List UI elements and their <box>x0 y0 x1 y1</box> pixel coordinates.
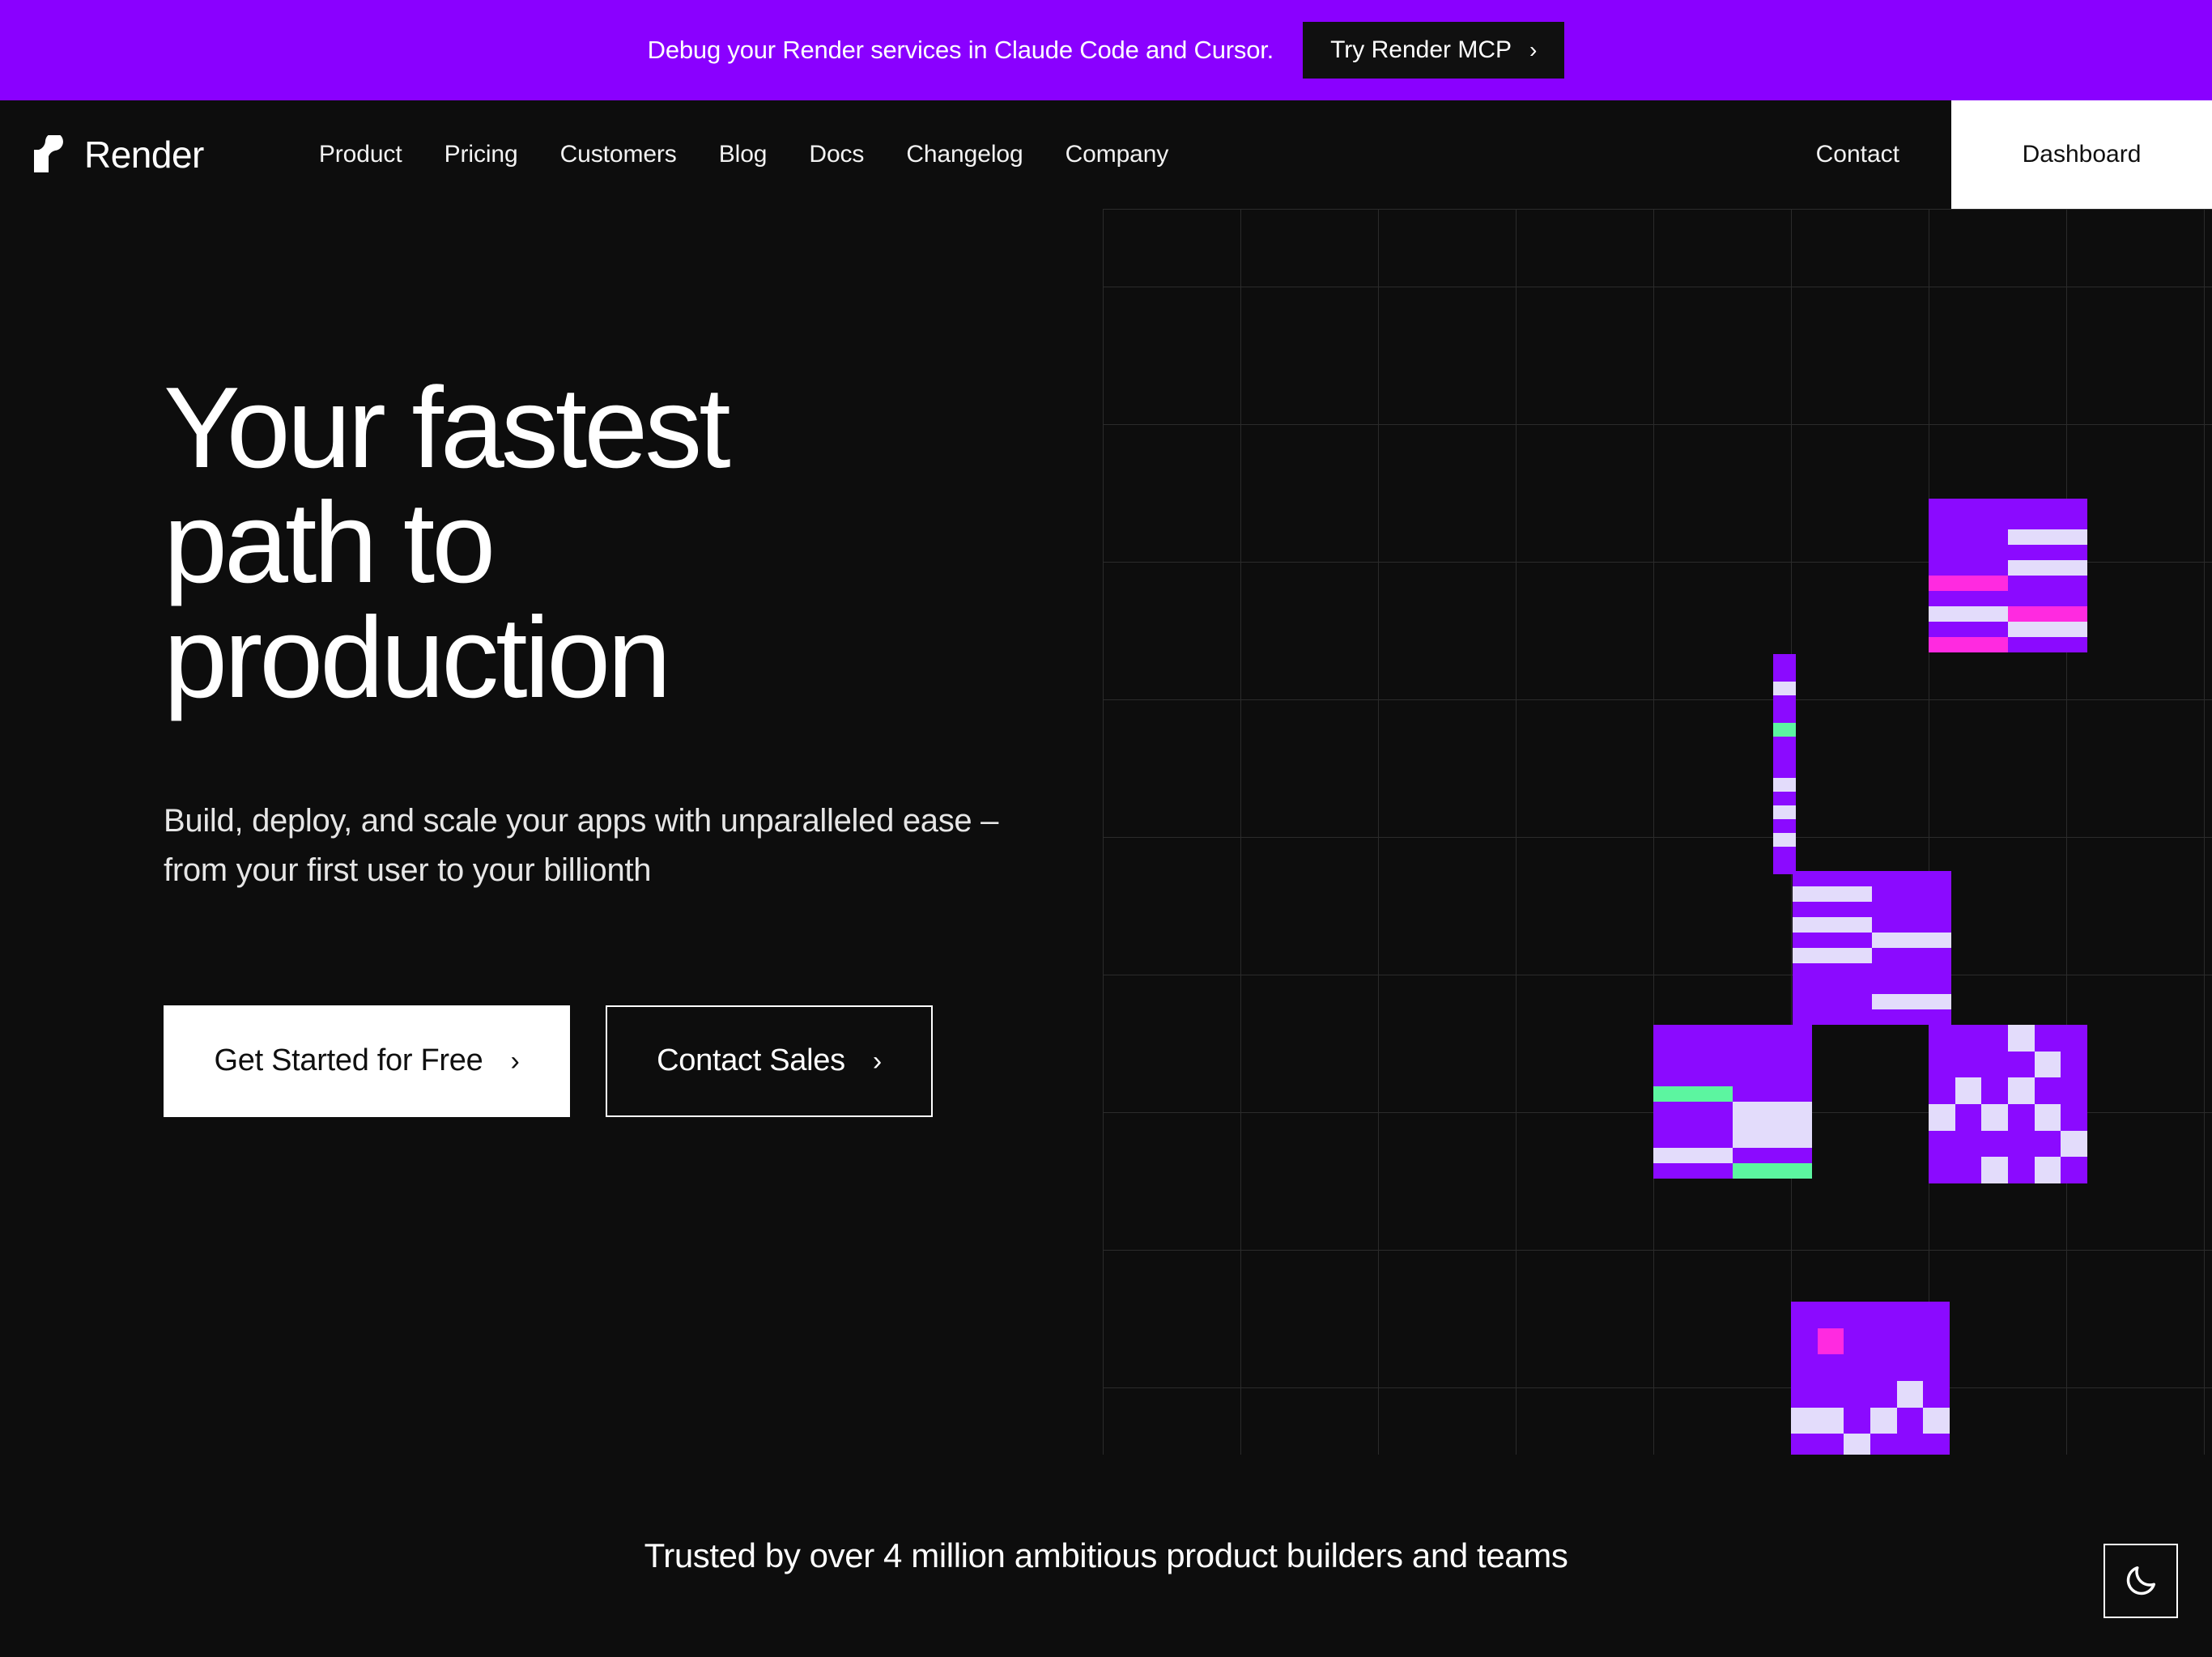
pixel-cell <box>1653 1025 1733 1040</box>
left-green-striped-block <box>1653 1025 1812 1179</box>
nav-right-group: Contact Dashboard <box>1764 100 2212 209</box>
pixel-cell <box>1872 1009 1951 1025</box>
nav-link-company[interactable]: Company <box>1066 141 1169 168</box>
pixel-cell <box>1872 886 1951 902</box>
chevron-right-icon: › <box>1529 39 1537 62</box>
pixel-cell <box>1793 979 1872 994</box>
grid-line-vertical <box>1516 209 1516 1455</box>
pixel-cell <box>1923 1408 1950 1434</box>
contact-sales-label: Contact Sales <box>657 1043 845 1078</box>
pixel-cell <box>1955 1077 1982 1104</box>
main-navigation: Render Product Pricing Customers Blog Do… <box>0 100 2212 209</box>
pixel-cell <box>2008 545 2087 560</box>
grid-line-horizontal <box>1103 1387 2212 1388</box>
pixel-cell <box>1929 1157 1955 1183</box>
pixel-cell <box>1929 1052 1955 1078</box>
pixel-cell <box>2008 1131 2035 1158</box>
pixel-cell <box>1981 1025 2008 1052</box>
hero-subtitle: Build, deploy, and scale your apps with … <box>164 797 1135 895</box>
pixel-cell <box>2035 1131 2061 1158</box>
pixel-cell <box>1793 948 1872 963</box>
pixel-cell <box>1870 1302 1897 1328</box>
pixel-cell <box>1929 1077 1955 1104</box>
pixel-cell <box>2008 529 2087 545</box>
pixel-cell <box>1653 1056 1733 1071</box>
pixel-cell <box>1733 1086 1812 1102</box>
pixel-cell <box>1793 994 1872 1009</box>
pixel-cell <box>1929 560 2008 576</box>
pixel-cell <box>1653 1163 1733 1179</box>
pixel-cell <box>2008 514 2087 529</box>
pixel-cell <box>1793 917 1872 933</box>
pixel-cell <box>1870 1381 1897 1408</box>
hero-cta-group: Get Started for Free › Contact Sales › <box>164 1005 1135 1117</box>
pixel-cell <box>2008 622 2087 637</box>
nav-link-product[interactable]: Product <box>319 141 402 168</box>
pixel-cell <box>1844 1354 1870 1381</box>
pixel-cell <box>1955 1025 1982 1052</box>
pixel-cell <box>1791 1354 1818 1381</box>
pixel-cell <box>1773 709 1796 723</box>
pixel-cell <box>1897 1328 1924 1355</box>
pixel-cell <box>1929 637 2008 652</box>
contact-sales-button[interactable]: Contact Sales › <box>606 1005 933 1117</box>
try-render-mcp-label: Try Render MCP <box>1330 36 1512 64</box>
pixel-cell <box>2035 1052 2061 1078</box>
pixel-cell <box>1844 1381 1870 1408</box>
pixel-cell <box>1923 1434 1950 1455</box>
trust-text: Trusted by over 4 million ambitious prod… <box>644 1536 1568 1575</box>
pixel-cell <box>2061 1131 2087 1158</box>
pixel-cell <box>1733 1071 1812 1086</box>
grid-line-horizontal <box>1103 424 2212 425</box>
nav-left-group: Render Product Pricing Customers Blog Do… <box>0 100 1168 209</box>
center-striped-block <box>1793 871 1951 1025</box>
pixel-cell <box>1872 948 1951 963</box>
pixel-cell <box>1923 1302 1950 1328</box>
pixel-cell <box>1773 737 1796 750</box>
pixel-cell <box>1653 1086 1733 1102</box>
pixel-cell <box>1929 576 2008 591</box>
page-title: Your fastest path to production <box>164 371 1135 716</box>
announcement-banner: Debug your Render services in Claude Cod… <box>0 0 2212 100</box>
pixel-cell <box>1929 499 2008 514</box>
pixel-cell <box>1897 1354 1924 1381</box>
render-landing-page: Debug your Render services in Claude Cod… <box>0 0 2212 1657</box>
pixel-cell <box>1870 1354 1897 1381</box>
grid-lines <box>1103 209 2212 1455</box>
pixel-cell <box>1929 1104 1955 1131</box>
pixel-cell <box>1733 1025 1812 1040</box>
pixel-cell <box>2008 560 2087 576</box>
pixel-cell <box>2008 1157 2035 1183</box>
pixel-cell <box>1981 1104 2008 1131</box>
pixel-cell <box>1929 529 2008 545</box>
pixel-cell <box>1773 764 1796 778</box>
pixel-cell <box>1793 1009 1872 1025</box>
pixel-cell <box>1929 545 2008 560</box>
pixel-cell <box>1818 1434 1844 1455</box>
render-logo[interactable]: Render <box>31 133 204 176</box>
pixel-cell <box>1870 1434 1897 1455</box>
announcement-text: Debug your Render services in Claude Cod… <box>648 36 1274 65</box>
pixel-cell <box>1981 1052 2008 1078</box>
grid-line-vertical <box>1929 209 1929 1455</box>
nav-link-docs[interactable]: Docs <box>809 141 864 168</box>
pixel-cell <box>1773 778 1796 792</box>
grid-line-vertical <box>1240 209 1241 1455</box>
grid-line-vertical <box>2204 209 2205 1455</box>
pixel-cell <box>2061 1104 2087 1131</box>
pixel-cell <box>1773 847 1796 860</box>
pixel-cell <box>1955 1104 1982 1131</box>
thin-vertical-strip <box>1773 654 1796 874</box>
pixel-cell <box>1773 833 1796 847</box>
nav-link-pricing[interactable]: Pricing <box>445 141 518 168</box>
top-right-striped-block <box>1929 499 2087 652</box>
pixel-cell <box>1872 902 1951 917</box>
pixel-cell <box>1793 886 1872 902</box>
pixel-cell <box>2061 1077 2087 1104</box>
pixel-cell <box>2008 499 2087 514</box>
grid-line-horizontal <box>1103 837 2212 838</box>
pixel-cell <box>1929 606 2008 622</box>
pixel-cell <box>1733 1148 1812 1163</box>
trust-banner: Trusted by over 4 million ambitious prod… <box>0 1455 2212 1657</box>
pixel-cell <box>1872 917 1951 933</box>
pixel-cell <box>1733 1163 1812 1179</box>
pixel-cell <box>2008 1052 2035 1078</box>
grid-line-horizontal <box>1103 209 2212 210</box>
pixel-cell <box>1653 1148 1733 1163</box>
pixel-grid-hero-art <box>1103 209 2212 1455</box>
pixel-cell <box>1773 682 1796 695</box>
hero-copy: Your fastest path to production Build, d… <box>164 371 1135 1117</box>
pixel-cell <box>1897 1408 1924 1434</box>
pixel-cell <box>1791 1381 1818 1408</box>
moon-icon <box>2122 1562 2159 1600</box>
pixel-cell <box>1653 1071 1733 1086</box>
pixel-cell <box>1733 1056 1812 1071</box>
pixel-cell <box>1733 1132 1812 1148</box>
pixel-cell <box>1818 1381 1844 1408</box>
nav-link-changelog[interactable]: Changelog <box>906 141 1023 168</box>
pixel-cell <box>1653 1117 1733 1132</box>
pixel-cell <box>1929 1131 1955 1158</box>
pixel-cell <box>1897 1434 1924 1455</box>
pixel-cell <box>2035 1077 2061 1104</box>
grid-line-vertical <box>1378 209 1379 1455</box>
pixel-cell <box>1872 994 1951 1009</box>
get-started-label: Get Started for Free <box>215 1043 483 1078</box>
pixel-cell <box>1981 1077 2008 1104</box>
grid-line-horizontal <box>1103 287 2212 287</box>
get-started-button[interactable]: Get Started for Free › <box>164 1005 570 1117</box>
pixel-cell <box>2008 606 2087 622</box>
pixel-cell <box>1773 668 1796 682</box>
pixel-cell <box>2061 1025 2087 1052</box>
pixel-cell <box>1653 1040 1733 1056</box>
pixel-cell <box>1844 1328 1870 1355</box>
pixel-cell <box>2035 1157 2061 1183</box>
pixel-cell <box>1773 654 1796 668</box>
pixel-cell <box>1818 1408 1844 1434</box>
pixel-cell <box>1923 1354 1950 1381</box>
pixel-cell <box>1773 750 1796 764</box>
pixel-cell <box>1791 1302 1818 1328</box>
nav-link-customers[interactable]: Customers <box>560 141 677 168</box>
pixel-cell <box>1773 805 1796 819</box>
pixel-cell <box>1929 622 2008 637</box>
bottom-magenta-block <box>1791 1302 1950 1455</box>
pixel-cell <box>1844 1408 1870 1434</box>
pixel-cell <box>1791 1408 1818 1434</box>
grid-line-horizontal <box>1103 699 2212 700</box>
pixel-cell <box>1818 1354 1844 1381</box>
pixel-cell <box>1872 933 1951 948</box>
hero-section: Your fastest path to production Build, d… <box>0 209 2212 1455</box>
pixel-cell <box>1870 1328 1897 1355</box>
pixel-cell <box>1929 1025 1955 1052</box>
pixel-cell <box>1955 1052 1982 1078</box>
pixel-cell <box>1733 1040 1812 1056</box>
pixel-cell <box>2061 1157 2087 1183</box>
pixel-cell <box>2008 1025 2035 1052</box>
pixel-cell <box>1844 1434 1870 1455</box>
render-logo-icon <box>31 135 66 174</box>
pixel-cell <box>1793 902 1872 917</box>
pixel-cell <box>2035 1104 2061 1131</box>
pixel-cell <box>1773 695 1796 709</box>
pixel-cell <box>1818 1302 1844 1328</box>
theme-toggle-button[interactable] <box>2104 1544 2178 1618</box>
pixel-cell <box>1897 1381 1924 1408</box>
pixel-cell <box>1870 1408 1897 1434</box>
pixel-cell <box>1897 1302 1924 1328</box>
pixel-cell <box>1872 963 1951 979</box>
pixel-cell <box>1793 933 1872 948</box>
grid-line-vertical <box>1653 209 1654 1455</box>
pixel-cell <box>1653 1102 1733 1117</box>
pixel-cell <box>2061 1052 2087 1078</box>
right-checkered-block <box>1929 1025 2087 1183</box>
try-render-mcp-button[interactable]: Try Render MCP › <box>1303 22 1564 79</box>
pixel-cell <box>2008 576 2087 591</box>
pixel-cell <box>1929 514 2008 529</box>
pixel-cell <box>1955 1131 1982 1158</box>
nav-link-contact[interactable]: Contact <box>1764 100 1951 209</box>
pixel-cell <box>1733 1117 1812 1132</box>
pixel-cell <box>1773 792 1796 805</box>
pixel-cell <box>2008 591 2087 606</box>
pixel-cell <box>1955 1157 1982 1183</box>
pixel-cell <box>1981 1157 2008 1183</box>
pixel-cell <box>1653 1132 1733 1148</box>
pixel-cell <box>1872 871 1951 886</box>
pixel-cell <box>1733 1102 1812 1117</box>
pixel-cell <box>1793 871 1872 886</box>
grid-line-horizontal <box>1103 975 2212 975</box>
pixel-cell <box>2008 1104 2035 1131</box>
render-logo-text: Render <box>84 133 204 176</box>
pixel-cell <box>1923 1328 1950 1355</box>
pixel-cell <box>1844 1302 1870 1328</box>
pixel-cell <box>1872 979 1951 994</box>
nav-links: Product Pricing Customers Blog Docs Chan… <box>319 141 1168 168</box>
pixel-cell <box>1929 591 2008 606</box>
pixel-cell <box>1923 1381 1950 1408</box>
pixel-cell <box>1791 1328 1818 1355</box>
pixel-cell <box>1793 963 1872 979</box>
pixel-cell <box>1818 1328 1844 1355</box>
pixel-cell <box>1773 723 1796 737</box>
chevron-right-icon: › <box>510 1047 519 1075</box>
grid-line-vertical <box>2066 209 2067 1455</box>
chevron-right-icon: › <box>873 1047 882 1075</box>
dashboard-button[interactable]: Dashboard <box>1951 100 2212 209</box>
pixel-cell <box>2035 1025 2061 1052</box>
pixel-cell <box>2008 637 2087 652</box>
pixel-cell <box>2008 1077 2035 1104</box>
grid-line-horizontal <box>1103 1250 2212 1251</box>
pixel-cell <box>1791 1434 1818 1455</box>
pixel-cell <box>1981 1131 2008 1158</box>
nav-link-blog[interactable]: Blog <box>719 141 768 168</box>
pixel-cell <box>1773 819 1796 833</box>
